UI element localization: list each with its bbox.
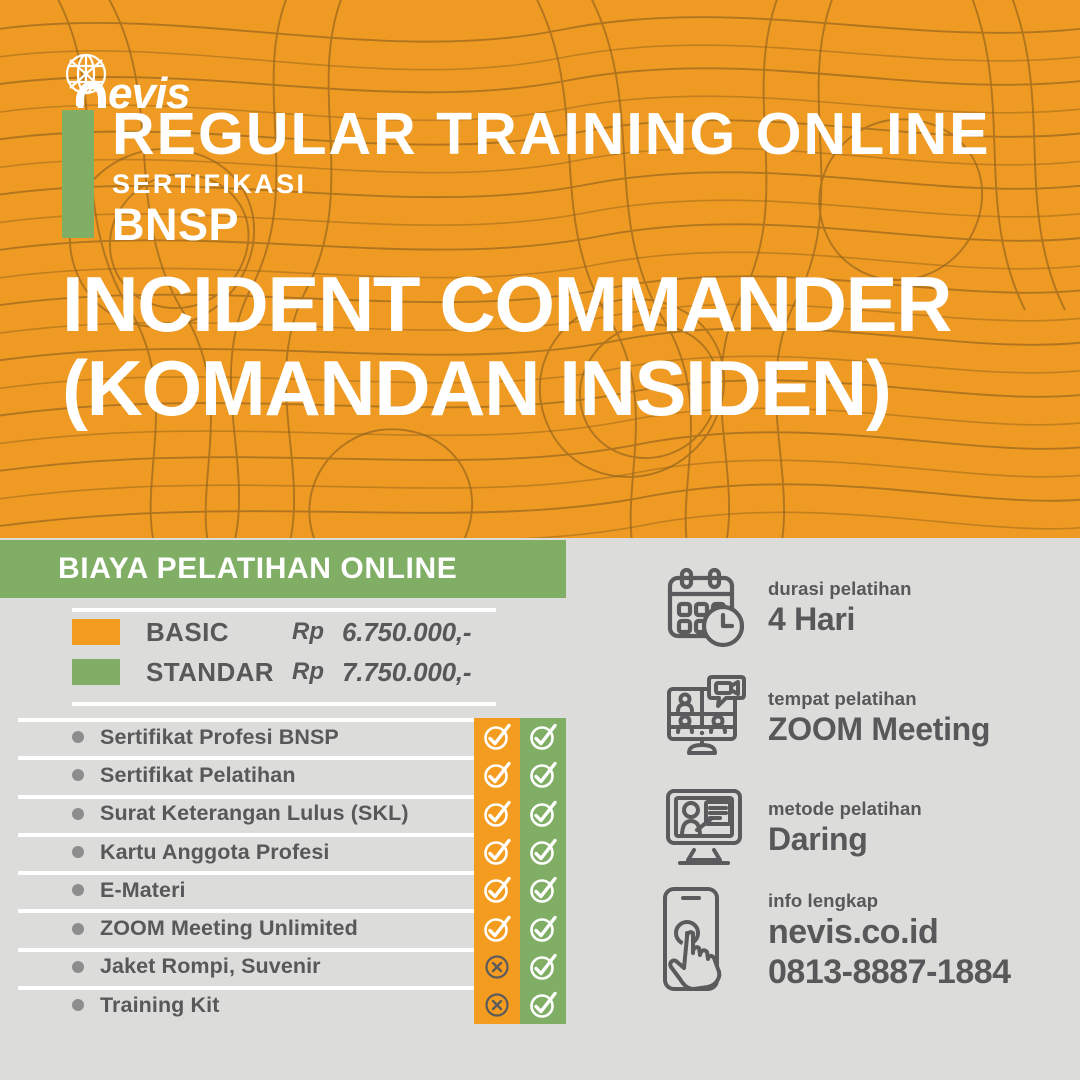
- check-icon: [482, 837, 512, 867]
- feature-cell-standar: [520, 795, 566, 833]
- plan-name-standar: STANDAR: [146, 657, 292, 688]
- feature-label: Training Kit: [100, 993, 219, 1018]
- feature-row: Training Kit: [0, 986, 566, 1024]
- hero-heading-group: REGULAR TRAINING ONLINE SERTIFIKASI BNSP: [112, 103, 1052, 249]
- check-icon: [528, 914, 558, 944]
- calendar-clock-icon: [660, 560, 752, 656]
- feature-cell-basic: [474, 871, 520, 909]
- bullet-icon: [72, 846, 84, 858]
- feature-cells: [474, 756, 566, 794]
- info-item-contact: info lengkap nevis.co.id 0813-8887-1884: [660, 890, 1060, 992]
- feature-cells: [474, 986, 566, 1024]
- check-icon: [482, 799, 512, 829]
- feature-cell-standar: [520, 756, 566, 794]
- feature-cell-basic: [474, 718, 520, 756]
- check-icon: [528, 722, 558, 752]
- smartphone-tap-icon: [660, 893, 752, 989]
- feature-cell-basic: [474, 833, 520, 871]
- feature-cells: [474, 909, 566, 947]
- feature-cell-standar: [520, 871, 566, 909]
- feature-cell-basic: [474, 909, 520, 947]
- poster-root: evis REGULAR TRAINING ONLINE SERTIFIKASI…: [0, 0, 1080, 1080]
- hero-subtitle-sertifikasi: SERTIFIKASI: [112, 169, 1052, 200]
- info-contact-text: info lengkap nevis.co.id 0813-8887-1884: [768, 890, 1011, 992]
- plan-name-basic: BASIC: [146, 617, 292, 648]
- check-icon: [528, 837, 558, 867]
- info-duration-value: 4 Hari: [768, 600, 911, 638]
- hero-subtitle-bnsp: BNSP: [112, 201, 1052, 249]
- bullet-icon: [72, 808, 84, 820]
- check-icon: [482, 875, 512, 905]
- info-contact-label: info lengkap: [768, 890, 1011, 912]
- feature-row: ZOOM Meeting Unlimited: [0, 909, 566, 947]
- info-contact-website[interactable]: nevis.co.id: [768, 912, 1011, 952]
- feature-label: E-Materi: [100, 878, 186, 903]
- check-icon: [482, 914, 512, 944]
- feature-row: Kartu Anggota Profesi: [0, 833, 566, 871]
- price-row-standar: STANDAR Rp 7.750.000,-: [72, 652, 508, 692]
- course-title: INCIDENT COMMANDER (KOMANDAN INSIDEN): [62, 262, 1072, 430]
- feature-label: Sertifikat Profesi BNSP: [100, 725, 339, 750]
- bullet-icon: [72, 731, 84, 743]
- cross-icon: [482, 952, 512, 982]
- feature-cell-basic: [474, 948, 520, 986]
- feature-cell-basic: [474, 756, 520, 794]
- bullet-icon: [72, 923, 84, 935]
- info-venue-text: tempat pelatihan ZOOM Meeting: [768, 688, 990, 748]
- feature-cell-standar: [520, 948, 566, 986]
- feature-label: Sertifikat Pelatihan: [100, 763, 296, 788]
- price-basic: 6.750.000,-: [342, 617, 471, 648]
- feature-label: ZOOM Meeting Unlimited: [100, 916, 358, 941]
- info-method-value: Daring: [768, 820, 922, 858]
- info-method-text: metode pelatihan Daring: [768, 798, 922, 858]
- info-item-duration: durasi pelatihan 4 Hari: [660, 560, 1060, 656]
- feature-label: Kartu Anggota Profesi: [100, 840, 329, 865]
- info-panel: durasi pelatihan 4 Hari: [660, 560, 1060, 1006]
- feature-label: Surat Keterangan Lulus (SKL): [100, 801, 409, 826]
- feature-cell-basic: [474, 795, 520, 833]
- feature-cell-standar: [520, 986, 566, 1024]
- cross-icon: [482, 990, 512, 1020]
- check-icon: [528, 760, 558, 790]
- feature-cell-basic: [474, 986, 520, 1024]
- feature-label: Jaket Rompi, Suvenir: [100, 954, 321, 979]
- currency-standar: Rp: [292, 658, 342, 686]
- info-item-venue: tempat pelatihan ZOOM Meeting: [660, 670, 1060, 766]
- feature-cells: [474, 948, 566, 986]
- swatch-basic: [72, 619, 120, 645]
- check-icon: [528, 952, 558, 982]
- price-list: BASIC Rp 6.750.000,- STANDAR Rp 7.750.00…: [0, 598, 566, 706]
- bullet-icon: [72, 884, 84, 896]
- bullet-icon: [72, 999, 84, 1011]
- feature-row: Sertifikat Profesi BNSP: [0, 718, 566, 756]
- feature-cells: [474, 795, 566, 833]
- bullet-icon: [72, 961, 84, 973]
- check-icon: [482, 722, 512, 752]
- price-section-title: BIAYA PELATIHAN ONLINE: [58, 552, 457, 586]
- info-method-label: metode pelatihan: [768, 798, 922, 820]
- check-icon: [482, 760, 512, 790]
- course-title-line-1: INCIDENT COMMANDER: [62, 262, 1072, 346]
- info-duration-text: durasi pelatihan 4 Hari: [768, 578, 911, 638]
- check-icon: [528, 875, 558, 905]
- feature-cell-standar: [520, 909, 566, 947]
- feature-comparison-table: Sertifikat Profesi BNSPSertifikat Pelati…: [0, 718, 566, 1024]
- divider-bottom: [72, 702, 496, 706]
- bullet-icon: [72, 769, 84, 781]
- feature-cells: [474, 871, 566, 909]
- feature-cells: [474, 833, 566, 871]
- presenter-screen-icon: [660, 780, 752, 876]
- feature-row: E-Materi: [0, 871, 566, 909]
- feature-row: Jaket Rompi, Suvenir: [0, 948, 566, 986]
- feature-cells: [474, 718, 566, 756]
- info-duration-label: durasi pelatihan: [768, 578, 911, 600]
- course-title-line-2: (KOMANDAN INSIDEN): [62, 346, 1072, 430]
- info-item-method: metode pelatihan Daring: [660, 780, 1060, 876]
- check-icon: [528, 799, 558, 829]
- swatch-standar: [72, 659, 120, 685]
- feature-cell-standar: [520, 833, 566, 871]
- feature-row: Surat Keterangan Lulus (SKL): [0, 795, 566, 833]
- price-standar: 7.750.000,-: [342, 657, 471, 688]
- info-contact-phone[interactable]: 0813-8887-1884: [768, 952, 1011, 992]
- currency-basic: Rp: [292, 618, 342, 646]
- price-row-basic: BASIC Rp 6.750.000,-: [72, 612, 508, 652]
- accent-bar: [62, 110, 94, 238]
- hero-kicker: REGULAR TRAINING ONLINE: [112, 103, 1052, 165]
- hero-banner: evis REGULAR TRAINING ONLINE SERTIFIKASI…: [0, 0, 1080, 538]
- feature-row: Sertifikat Pelatihan: [0, 756, 566, 794]
- info-venue-value: ZOOM Meeting: [768, 710, 990, 748]
- check-icon: [528, 990, 558, 1020]
- feature-cell-standar: [520, 718, 566, 756]
- price-section-header: BIAYA PELATIHAN ONLINE: [0, 540, 566, 598]
- info-venue-label: tempat pelatihan: [768, 688, 990, 710]
- video-conference-icon: [660, 670, 752, 766]
